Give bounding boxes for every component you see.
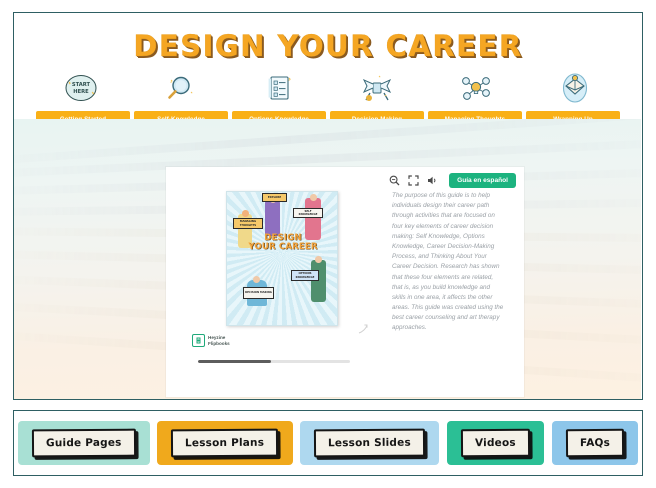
decision-signpost-icon[interactable] <box>335 69 419 107</box>
viewer-toolbar: Guía en español <box>388 173 516 188</box>
main-content-card: DESIGN YOUR CAREER START HERE <box>13 12 643 400</box>
figure-yellow-head <box>242 210 249 217</box>
tab-faqs-label: FAQs <box>566 429 624 457</box>
tab-videos[interactable]: Videos <box>447 421 544 465</box>
svg-text:HERE: HERE <box>74 89 90 95</box>
resource-tabs-card: Guide Pages Lesson Plans Lesson Slides V… <box>13 410 643 476</box>
fullscreen-icon[interactable] <box>407 175 419 187</box>
page-title: DESIGN YOUR CAREER <box>14 13 642 63</box>
cover-sign-explore: EXPLORE <box>262 193 287 202</box>
tab-guide-pages-label: Guide Pages <box>32 429 136 458</box>
tab-lesson-plans-label: Lesson Plans <box>171 429 278 458</box>
cover-sign-options-knowledge: OPTIONS KNOWLEDGE <box>291 270 319 281</box>
gift-package-icon[interactable] <box>533 69 617 107</box>
header-icon-row: START HERE <box>14 69 642 107</box>
tab-videos-label: Videos <box>461 429 530 457</box>
book-stage: EXPLORE SELF KNOWLEDGE MANAGING THOUGHTS… <box>170 189 382 379</box>
cover-sign-self-knowledge: SELF KNOWLEDGE <box>293 208 323 218</box>
start-here-badge-icon[interactable]: START HERE <box>39 69 123 107</box>
page-progress-bar[interactable] <box>198 360 350 363</box>
hero-section: Guía en español <box>14 119 641 399</box>
page-curl-icon[interactable] <box>358 321 368 331</box>
heyzine-line2: Flipbooks <box>208 341 230 346</box>
tab-faqs[interactable]: FAQs <box>552 421 638 465</box>
cover-sign-decision-making: DECISION MAKING <box>243 287 274 299</box>
heyzine-label: Heyzine Flipbooks <box>208 335 230 346</box>
magnifying-glass-icon[interactable] <box>138 69 222 107</box>
spanish-guide-button[interactable]: Guía en español <box>449 173 516 188</box>
site-header: DESIGN YOUR CAREER START HERE <box>14 13 642 119</box>
figure-green-head <box>315 256 322 263</box>
lightbulb-network-icon[interactable] <box>434 69 518 107</box>
figure-green <box>311 260 326 302</box>
heyzine-branding[interactable]: Heyzine Flipbooks <box>192 334 230 347</box>
zoom-in-icon[interactable] <box>388 175 400 187</box>
tab-lesson-plans[interactable]: Lesson Plans <box>157 421 292 465</box>
sound-icon[interactable] <box>426 175 438 187</box>
figure-pink-head <box>310 194 317 201</box>
cover-title-line2: YOUR CAREER <box>239 243 327 252</box>
tab-guide-pages[interactable]: Guide Pages <box>18 421 150 465</box>
guide-description: The purpose of this guide is to help ind… <box>392 191 504 387</box>
checklist-icon[interactable] <box>237 69 321 107</box>
page-progress-fill <box>198 360 271 363</box>
flipbook-viewer[interactable]: Guía en español <box>166 167 524 397</box>
tab-lesson-slides-label: Lesson Slides <box>314 429 425 458</box>
figure-purple <box>265 200 280 236</box>
cover-title: DESIGN YOUR CAREER <box>239 234 327 252</box>
book-cover[interactable]: EXPLORE SELF KNOWLEDGE MANAGING THOUGHTS… <box>226 191 338 326</box>
svg-text:START: START <box>72 82 91 88</box>
heyzine-logo-icon <box>192 334 205 347</box>
page-root: DESIGN YOUR CAREER START HERE <box>0 0 656 488</box>
figure-blue-head <box>253 276 260 283</box>
tab-lesson-slides[interactable]: Lesson Slides <box>300 421 439 465</box>
heyzine-line1: Heyzine <box>208 335 225 340</box>
cover-sign-managing-thoughts: MANAGING THOUGHTS <box>233 218 263 229</box>
